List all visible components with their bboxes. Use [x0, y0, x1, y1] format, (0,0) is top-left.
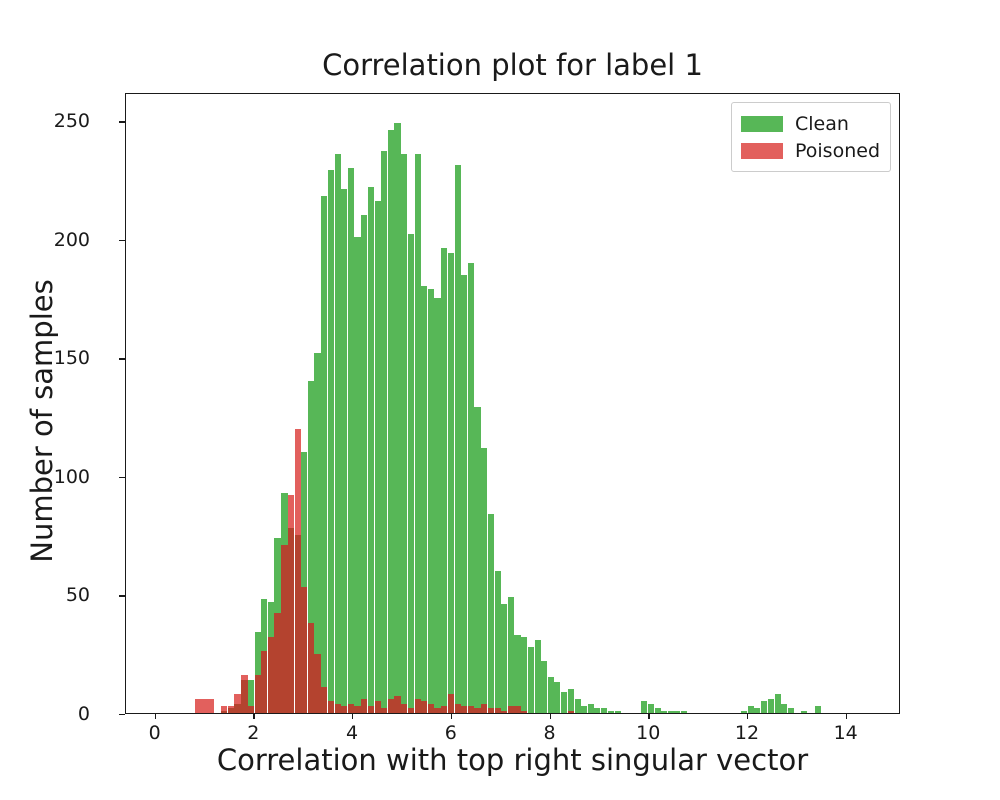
y-tick-mark-0 [119, 714, 125, 715]
histogram-bar-overlap [361, 699, 367, 713]
histogram-bar-overlap [381, 708, 387, 713]
histogram-bar [541, 661, 547, 713]
histogram-bar [461, 275, 467, 713]
histogram-bar [508, 597, 514, 713]
histogram-bar-overlap [514, 706, 520, 713]
histogram-bar [674, 711, 680, 713]
histogram-bar [768, 699, 774, 713]
histogram-bar [474, 407, 480, 713]
histogram-bar [521, 637, 527, 713]
histogram-bar [754, 708, 760, 713]
histogram-bar-overlap [268, 637, 274, 713]
histogram-bar [441, 248, 447, 713]
histogram-bar [408, 234, 414, 713]
histogram-bar [788, 708, 794, 713]
histogram-bar-overlap [328, 701, 334, 713]
histogram-bar [655, 708, 661, 713]
histogram-bar [481, 448, 487, 713]
histogram-bar-overlap [461, 706, 467, 713]
histogram-bar [401, 154, 407, 713]
histogram-bar [361, 215, 367, 713]
y-tick-label-4: 200 [0, 229, 90, 251]
histogram-bar [428, 289, 434, 713]
y-tick-label-0: 0 [0, 703, 90, 725]
histogram-bar [554, 682, 560, 713]
histogram-bar-overlap [228, 708, 234, 713]
y-tick-label-2: 100 [0, 466, 90, 488]
histogram-bar [321, 196, 327, 713]
histogram-bar [375, 201, 381, 713]
histogram-bar-overlap [348, 704, 354, 713]
histogram-bar-overlap [221, 711, 227, 713]
histogram-bar-overlap [341, 706, 347, 713]
legend-item-clean[interactable]: Clean [741, 110, 881, 137]
histogram-bar-overlap [335, 704, 341, 713]
histogram-bar [195, 699, 201, 713]
histogram-bar-overlap [401, 704, 407, 713]
histogram-bar-overlap [488, 708, 494, 713]
y-tick-label-5: 250 [0, 110, 90, 132]
histogram-bar [448, 253, 454, 713]
histogram-bar-overlap [501, 711, 507, 713]
histogram-bar [608, 711, 614, 713]
histogram-bar [741, 711, 747, 713]
histogram-bar-overlap [288, 528, 294, 713]
histogram-bar [501, 604, 507, 713]
histogram-bar-overlap [368, 706, 374, 713]
histogram-bar [354, 237, 360, 713]
histogram-bar-overlap [375, 701, 381, 713]
histogram-bar [341, 189, 347, 713]
histogram-bar [535, 640, 541, 713]
histogram-bar-overlap [421, 701, 427, 713]
histogram-bar-overlap [495, 708, 501, 713]
histogram-bar-overlap [234, 704, 240, 713]
y-tick-label-3: 150 [0, 347, 90, 369]
figure-canvas: Correlation plot for label 1 Number of s… [0, 0, 1000, 800]
histogram-bar-overlap [428, 704, 434, 713]
legend-swatch-icon [741, 143, 783, 159]
histogram-bar [348, 168, 354, 713]
histogram-bar-overlap [441, 706, 447, 713]
histogram-bar [381, 151, 387, 713]
histogram-bar [434, 298, 440, 713]
y-axis-label: Number of samples [25, 211, 59, 631]
histogram-bar [575, 699, 581, 713]
legend-item-poisoned[interactable]: Poisoned [741, 137, 881, 164]
histogram-bar-overlap [301, 587, 307, 713]
legend-label: Clean [795, 113, 849, 135]
histogram-bar-overlap [521, 711, 527, 713]
histogram-bar [615, 711, 621, 713]
x-tick-label-6: 12 [702, 722, 792, 744]
histogram-bar [781, 704, 787, 713]
histogram-bar [495, 571, 501, 713]
histogram-bar [415, 154, 421, 713]
histogram-bar [528, 647, 534, 713]
histogram-bar-overlap [481, 704, 487, 713]
histogram-bar-overlap [274, 613, 280, 713]
x-tick-label-3: 6 [406, 722, 496, 744]
histogram-bar [328, 170, 334, 713]
histogram-bar-overlap [568, 711, 574, 713]
histogram-bar [681, 711, 687, 713]
chart-title: Correlation plot for label 1 [125, 48, 900, 82]
histogram-bar [421, 286, 427, 713]
histogram-bar-overlap [308, 623, 314, 713]
histogram-bar-overlap [394, 696, 400, 713]
histogram-bar [335, 154, 341, 713]
histogram-bar-overlap [255, 675, 261, 713]
x-tick-label-7: 14 [801, 722, 891, 744]
histogram-bar [668, 711, 674, 713]
histogram-bar-overlap [508, 706, 514, 713]
histogram-bar-overlap [354, 706, 360, 713]
histogram-bar-overlap [281, 545, 287, 713]
histogram-bar [775, 694, 781, 713]
histogram-bar [368, 187, 374, 713]
histogram-bar-overlap [474, 708, 480, 713]
plot-area [125, 93, 900, 714]
histogram-bar [514, 635, 520, 713]
histogram-bar-overlap [408, 708, 414, 713]
histogram-bar-overlap [455, 704, 461, 713]
histogram-bar [588, 704, 594, 713]
y-tick-label-1: 50 [0, 584, 90, 606]
x-tick-label-0: 0 [110, 722, 200, 744]
histogram-bar-overlap [448, 694, 454, 713]
x-tick-label-5: 10 [603, 722, 693, 744]
x-tick-label-4: 8 [505, 722, 595, 744]
histogram-bar [581, 706, 587, 713]
histogram-bar [601, 708, 607, 713]
histogram-bar [801, 711, 807, 713]
histogram-bar-overlap [261, 651, 267, 713]
histogram-bar [488, 514, 494, 713]
histogram-bar [388, 130, 394, 713]
histogram-bar-overlap [314, 654, 320, 713]
histogram-bar-overlap [388, 699, 394, 713]
histogram-bar [661, 711, 667, 713]
histogram-bar [455, 165, 461, 713]
histogram-bar [548, 677, 554, 713]
histogram-bar-overlap [468, 706, 474, 713]
histogram-bar-overlap [241, 680, 247, 713]
histogram-bar [201, 699, 207, 713]
histogram-bar [641, 701, 647, 713]
histogram-bar [761, 701, 767, 713]
histogram-bar-overlap [321, 687, 327, 713]
histogram-bar-overlap [434, 708, 440, 713]
legend-box: CleanPoisoned [731, 102, 891, 172]
histogram-bar [468, 263, 474, 713]
histogram-bar [815, 706, 821, 713]
x-axis-label: Correlation with top right singular vect… [125, 743, 900, 777]
histogram-bar-overlap [415, 699, 421, 713]
histogram-bar-overlap [295, 535, 301, 713]
legend-swatch-icon [741, 116, 783, 132]
histogram-bars [126, 94, 899, 713]
histogram-bar [748, 706, 754, 713]
legend-label: Poisoned [795, 140, 880, 162]
histogram-bar [561, 692, 567, 713]
histogram-bar [208, 699, 214, 713]
histogram-bar [594, 708, 600, 713]
histogram-bar-overlap [248, 706, 254, 713]
x-tick-label-1: 2 [208, 722, 298, 744]
histogram-bar [568, 689, 574, 713]
histogram-bar [648, 704, 654, 713]
x-tick-label-2: 4 [307, 722, 397, 744]
histogram-bar [394, 123, 400, 713]
